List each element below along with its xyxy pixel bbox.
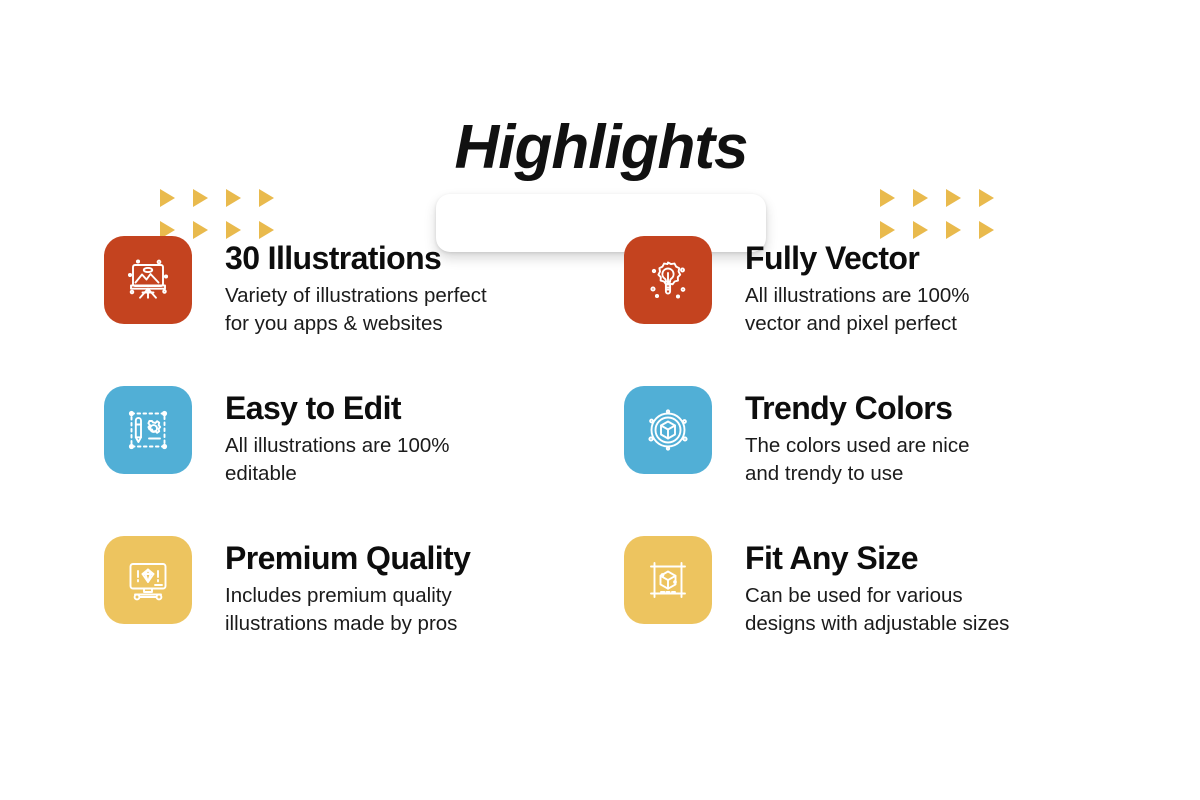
feature-description: All illustrations are 100% vector and pi…	[745, 282, 969, 338]
feature-icon-tile	[104, 236, 192, 324]
feature-text: Fully Vector All illustrations are 100% …	[712, 236, 969, 338]
features-grid: 30 Illustrations Variety of illustration…	[104, 236, 1114, 686]
feature-description: Includes premium quality illustrations m…	[225, 582, 470, 638]
triangle-right-icon	[259, 189, 274, 207]
pencil-gear-selection-icon	[122, 404, 174, 456]
feature-text: Fit Any Size Can be used for various des…	[712, 536, 1009, 638]
feature-item-fit-any-size: Fit Any Size Can be used for various des…	[624, 536, 1114, 686]
triangle-right-icon	[946, 189, 961, 207]
feature-item-trendy-colors: Trendy Colors The colors used are nice a…	[624, 386, 1114, 536]
feature-item-illustrations: 30 Illustrations Variety of illustration…	[104, 236, 624, 386]
feature-description-line: for you apps & websites	[225, 310, 487, 338]
feature-description: All illustrations are 100% editable	[225, 432, 449, 488]
cube-resize-frame-icon	[642, 554, 694, 606]
feature-description-line: designs with adjustable sizes	[745, 610, 1009, 638]
feature-item-premium-quality: Premium Quality Includes premium quality…	[104, 536, 624, 686]
triangle-right-icon	[880, 189, 895, 207]
feature-description-line: Includes premium quality	[225, 582, 470, 610]
feature-title: Trendy Colors	[745, 388, 969, 428]
feature-title: Fully Vector	[745, 238, 969, 278]
feature-icon-tile	[624, 236, 712, 324]
feature-title: Premium Quality	[225, 538, 470, 578]
feature-text: 30 Illustrations Variety of illustration…	[192, 236, 487, 338]
feature-text: Trendy Colors The colors used are nice a…	[712, 386, 969, 488]
feature-title: Fit Any Size	[745, 538, 1009, 578]
feature-item-easy-to-edit: Easy to Edit All illustrations are 100% …	[104, 386, 624, 536]
feature-icon-tile	[104, 536, 192, 624]
feature-description-line: All illustrations are 100%	[745, 282, 969, 310]
triangle-right-icon	[193, 189, 208, 207]
feature-description-line: vector and pixel perfect	[745, 310, 969, 338]
triangle-right-icon	[979, 189, 994, 207]
feature-description-line: The colors used are nice	[745, 432, 969, 460]
triangle-right-icon	[160, 189, 175, 207]
triangle-right-icon	[226, 189, 241, 207]
feature-description-line: Can be used for various	[745, 582, 1009, 610]
page-header: Highlights	[0, 78, 1200, 188]
feature-text: Easy to Edit All illustrations are 100% …	[192, 386, 449, 488]
triangle-right-icon	[913, 189, 928, 207]
feature-description: Variety of illustrations perfect for you…	[225, 282, 487, 338]
page-title-group: Highlights	[436, 100, 766, 252]
feature-description-line: and trendy to use	[745, 460, 969, 488]
feature-description-line: illustrations made by pros	[225, 610, 470, 638]
feature-title: 30 Illustrations	[225, 238, 487, 278]
feature-icon-tile	[624, 536, 712, 624]
monitor-diamond-icon	[122, 554, 174, 606]
feature-title: Easy to Edit	[225, 388, 449, 428]
easel-picture-icon	[122, 254, 174, 306]
feature-item-fully-vector: Fully Vector All illustrations are 100% …	[624, 236, 1114, 386]
page-title: Highlights	[436, 100, 766, 196]
feature-icon-tile	[624, 386, 712, 474]
feature-text: Premium Quality Includes premium quality…	[192, 536, 470, 638]
cube-circles-icon	[642, 404, 694, 456]
gear-lightbulb-icon	[642, 254, 694, 306]
feature-icon-tile	[104, 386, 192, 474]
feature-description-line: Variety of illustrations perfect	[225, 282, 487, 310]
feature-description-line: All illustrations are 100%	[225, 432, 449, 460]
feature-description: The colors used are nice and trendy to u…	[745, 432, 969, 488]
feature-description: Can be used for various designs with adj…	[745, 582, 1009, 638]
feature-description-line: editable	[225, 460, 449, 488]
